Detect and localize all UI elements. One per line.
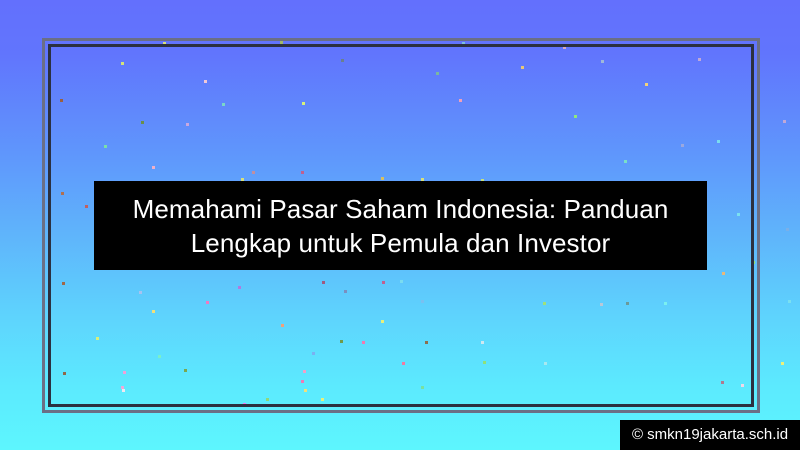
decorative-dot: [783, 120, 786, 123]
decorative-dot: [786, 228, 789, 231]
page-title: Memahami Pasar Saham Indonesia: Panduan …: [133, 192, 669, 260]
attribution-badge: © smkn19jakarta.sch.id: [620, 420, 800, 450]
title-banner: Memahami Pasar Saham Indonesia: Panduan …: [94, 181, 707, 270]
banner-canvas: Memahami Pasar Saham Indonesia: Panduan …: [0, 0, 800, 450]
decorative-dot: [781, 362, 784, 365]
attribution-text: © smkn19jakarta.sch.id: [632, 426, 788, 444]
decorative-dot: [788, 300, 791, 303]
